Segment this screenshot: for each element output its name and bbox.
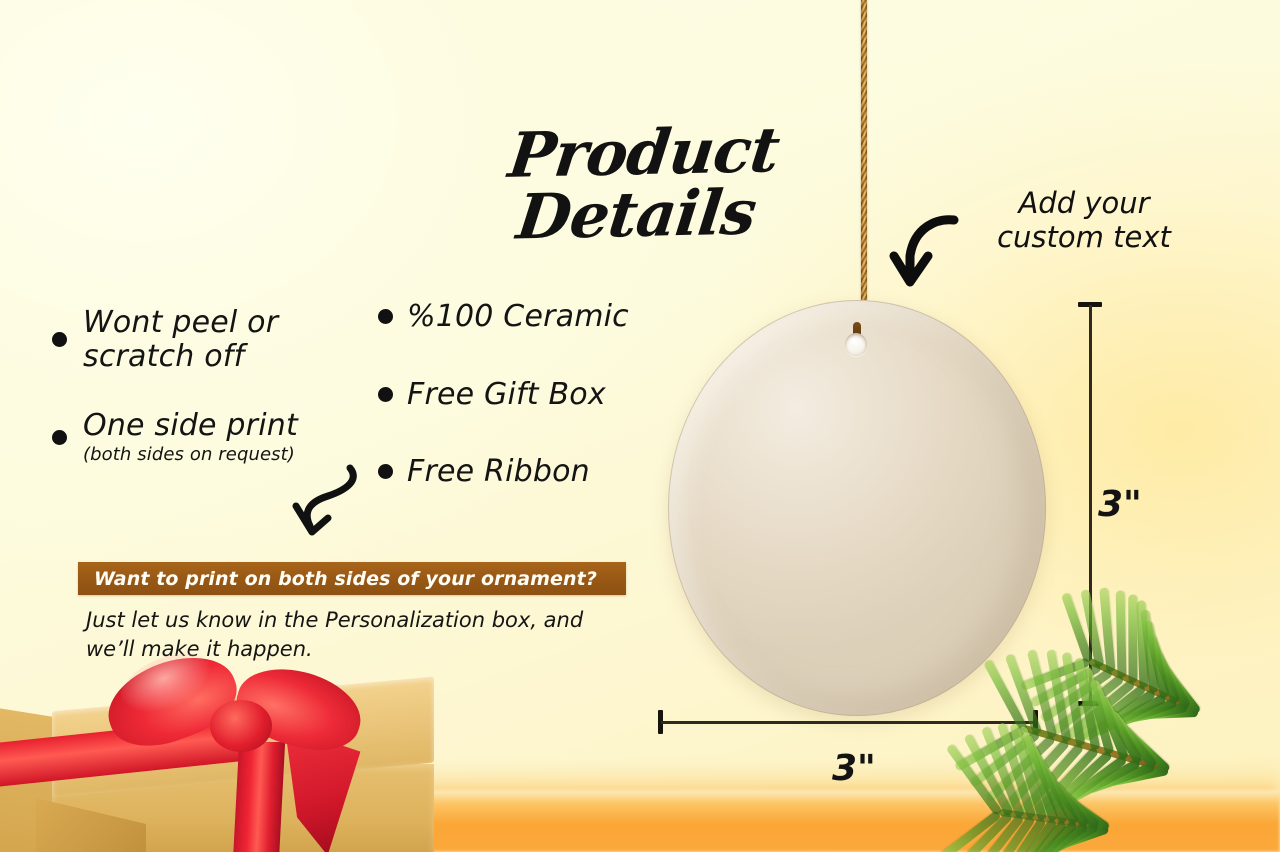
curved-arrow-down-icon (288, 462, 374, 546)
both-sides-banner: Want to print on both sides of your orna… (78, 562, 626, 595)
pine-needle (1116, 590, 1127, 677)
dimension-shaft (661, 721, 1035, 724)
bullet-dot-icon (378, 387, 393, 402)
ornament-hanging-cord (861, 0, 867, 340)
feature-text: One side print (both sides on request) (83, 409, 298, 465)
feature-text: Wont peel or scratch off (83, 306, 352, 373)
list-item: Free Gift Box (378, 378, 668, 412)
feature-text-sub: (both sides on request) (83, 444, 298, 466)
ceramic-ornament-disc (668, 300, 1046, 716)
gift-box-photo (0, 638, 470, 852)
height-label: 3" (1098, 484, 1142, 525)
list-item: One side print (both sides on request) (52, 409, 352, 465)
pine-branch-photo (1048, 588, 1280, 852)
ornament-hanging-hole (845, 333, 867, 356)
bullet-dot-icon (378, 464, 393, 479)
list-item: %100 Ceramic (378, 300, 668, 334)
feature-text-main: One side print (83, 408, 298, 443)
gift-bow-knot (210, 700, 272, 752)
feature-text: Free Gift Box (407, 378, 606, 412)
list-item: Wont peel or scratch off (52, 306, 352, 373)
list-item: Free Ribbon (378, 455, 668, 489)
curved-arrow-down-left-icon (888, 212, 960, 288)
gift-ribbon-vertical (233, 742, 285, 852)
feature-list-right: %100 Ceramic Free Gift Box Free Ribbon (378, 300, 668, 533)
bullet-dot-icon (52, 430, 67, 445)
callout-line-2: custom text (984, 220, 1184, 254)
banner-headline: Want to print on both sides of your orna… (78, 568, 597, 590)
callout-line-1: Add your (984, 186, 1184, 220)
bullet-dot-icon (378, 309, 393, 324)
page-title: Product Details (422, 118, 858, 251)
feature-text: %100 Ceramic (407, 300, 629, 334)
pine-needle (1128, 594, 1137, 682)
width-label: 3" (832, 748, 876, 789)
product-details-graphic: Product Details Wont peel or scratch off… (0, 0, 1280, 852)
custom-text-callout: Add your custom text (984, 186, 1184, 254)
ornament-edge (668, 300, 1046, 716)
feature-text: Free Ribbon (407, 455, 590, 489)
bullet-dot-icon (52, 332, 67, 347)
